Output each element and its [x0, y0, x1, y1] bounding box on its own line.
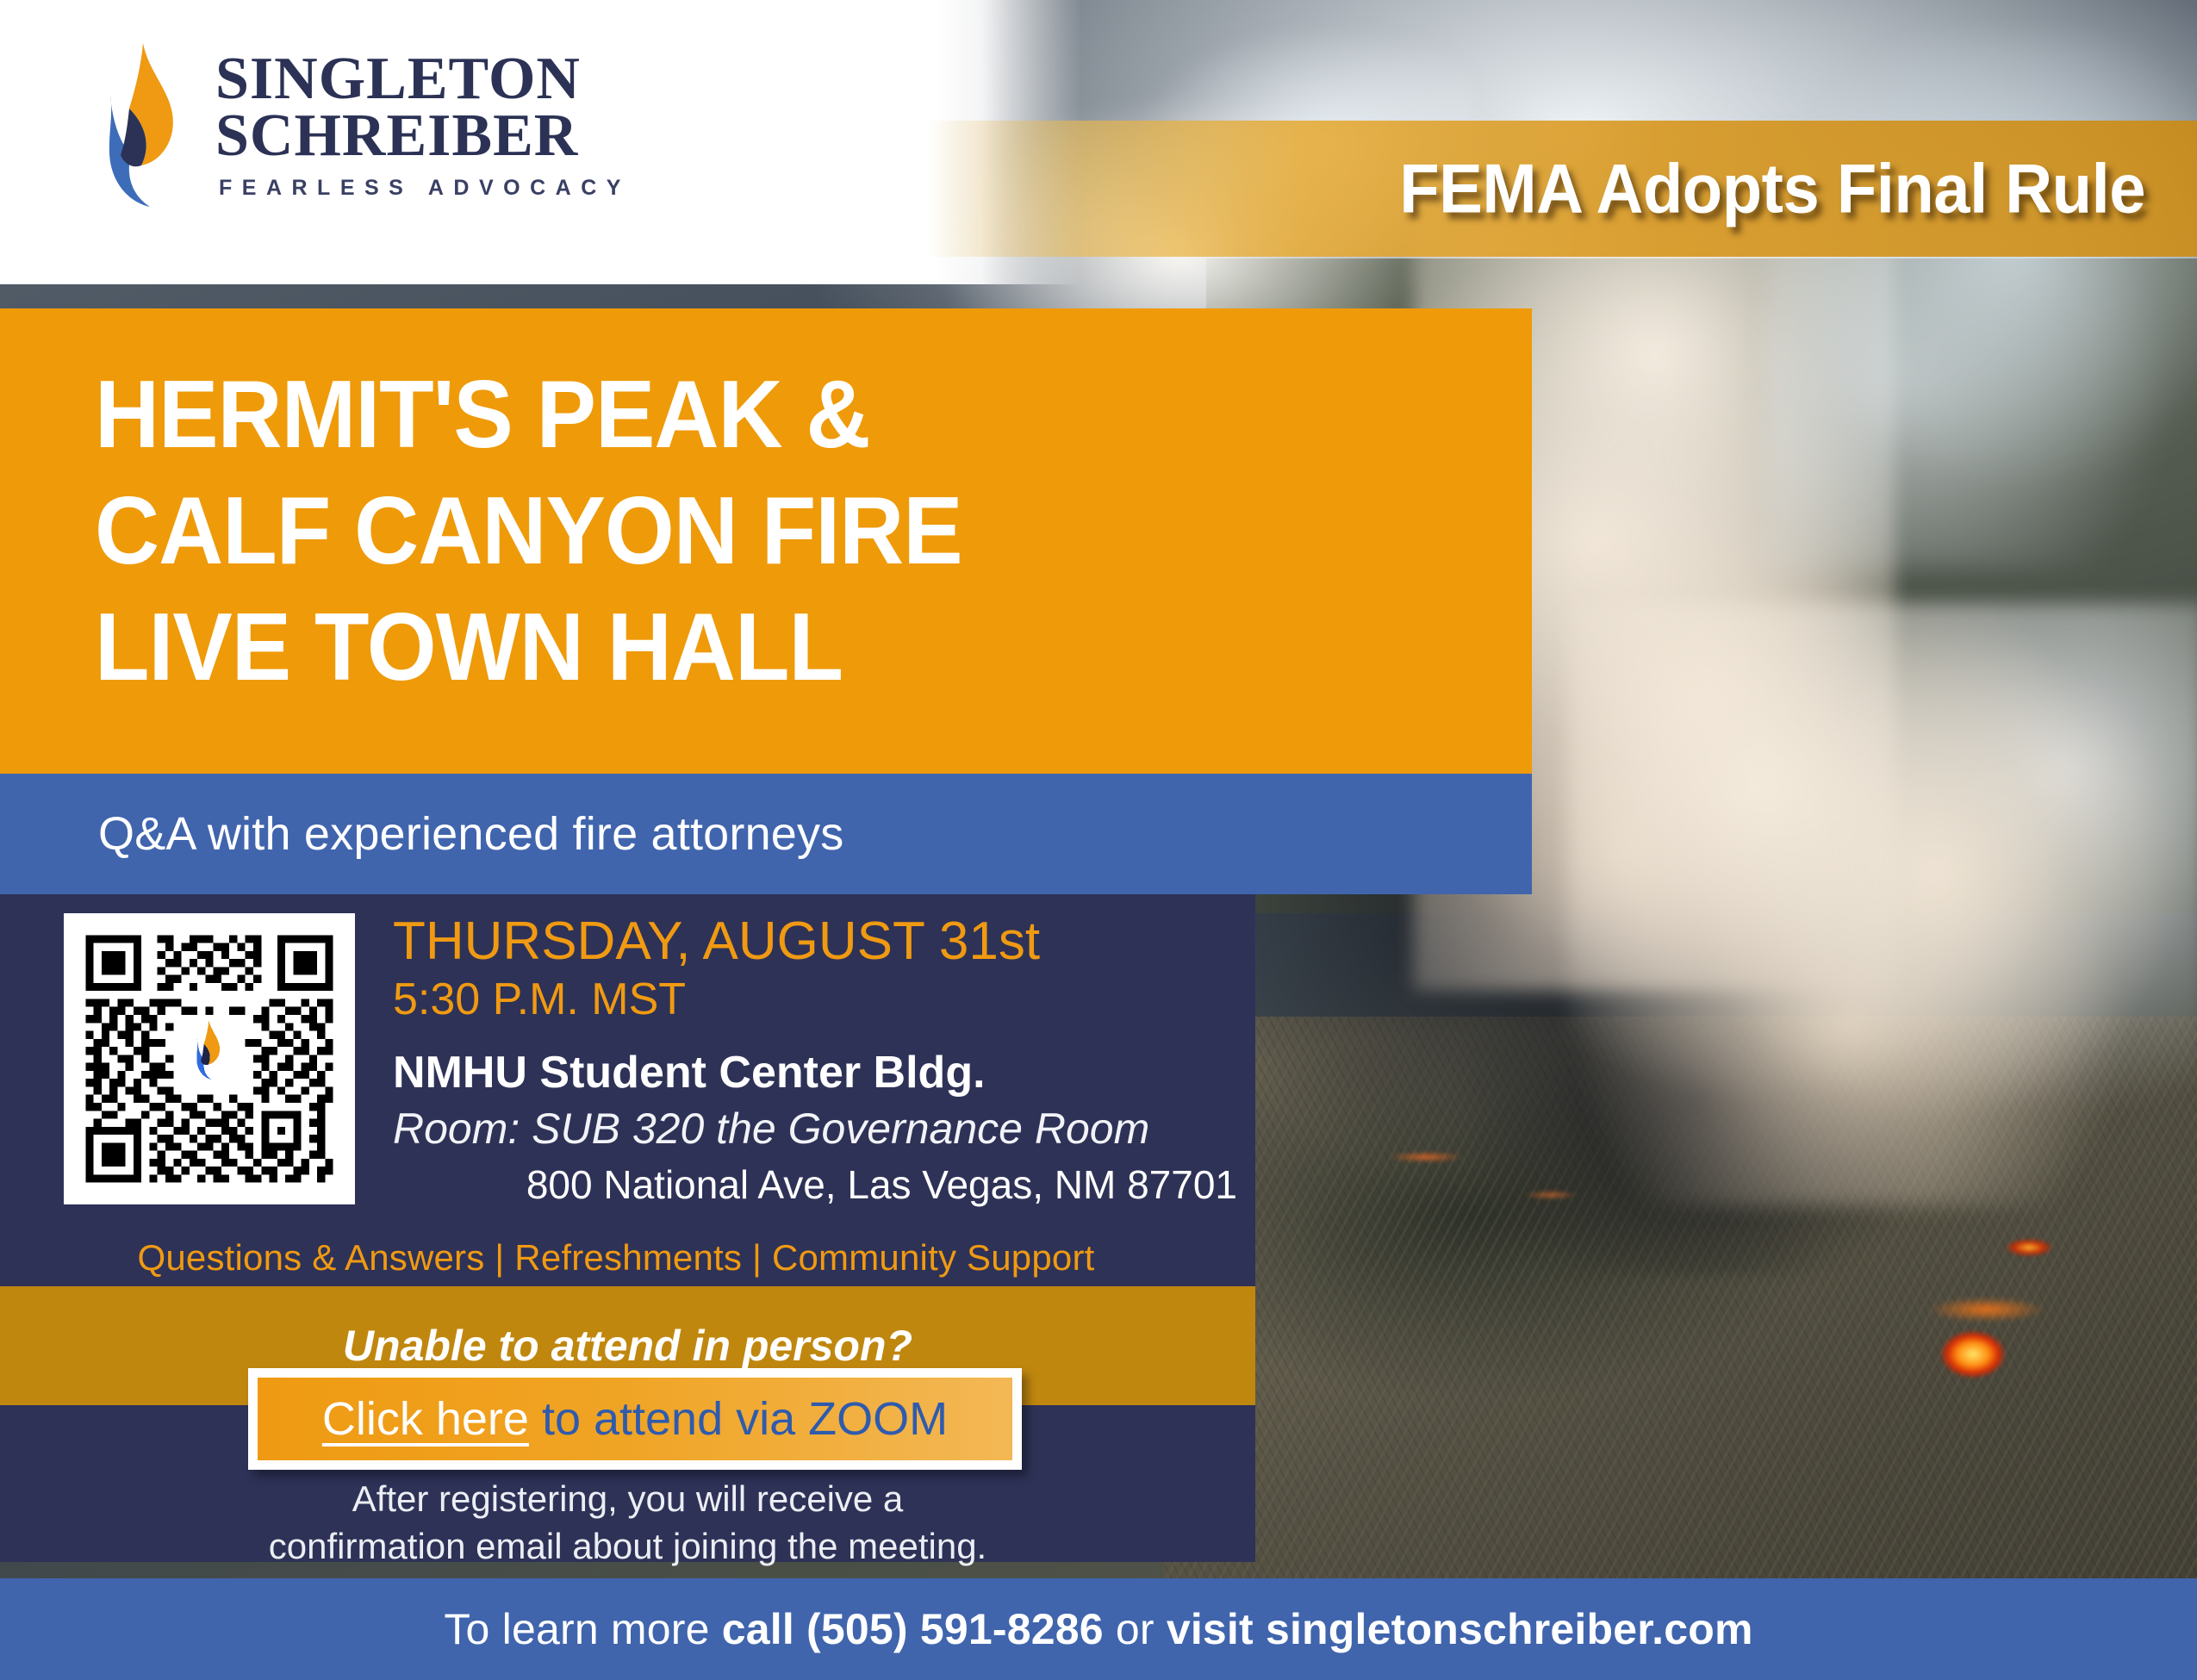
- headline-line-2: CALF CANYON FIRE: [95, 470, 1532, 594]
- zoom-register-button[interactable]: Click here to attend via ZOOM: [248, 1368, 1022, 1470]
- zoom-register-button-face: Click here to attend via ZOOM: [258, 1378, 1012, 1460]
- photo-plume-lower: [1568, 603, 2197, 1206]
- contact-footer-text: To learn more call (505) 591-8286 or vis…: [444, 1604, 1752, 1654]
- flyer-root: SINGLETON SCHREIBER FEARLESS ADVOCACY FE…: [0, 0, 2197, 1680]
- photo-flame-hotspot-small-left: [1379, 1150, 1473, 1164]
- headline-line-1: HERMIT'S PEAK &: [95, 353, 1532, 478]
- photo-plume-upper-right: [1766, 34, 2197, 569]
- footer-lead: To learn more: [444, 1605, 721, 1653]
- flame-logo-icon: [76, 41, 190, 210]
- zoom-cta-rest: to attend via ZOOM: [529, 1393, 948, 1445]
- footer-phone[interactable]: call (505) 591-8286: [722, 1605, 1104, 1653]
- brand-name-line1: SINGLETON: [215, 51, 631, 108]
- headline-block: HERMIT'S PEAK & CALF CANYON FIRE LIVE TO…: [0, 308, 1532, 774]
- footer-website[interactable]: visit singletonschreiber.com: [1167, 1605, 1753, 1653]
- registration-note: After registering, you will receive a co…: [0, 1476, 1255, 1570]
- photo-flame-hotspot-small-mid: [1516, 1189, 1585, 1201]
- event-room: Room: SUB 320 the Governance Room: [393, 1103, 1237, 1155]
- zoom-register-label: Click here to attend via ZOOM: [322, 1392, 948, 1446]
- virtual-attend-prompt: Unable to attend in person?: [343, 1321, 912, 1371]
- event-venue: NMHU Student Center Bldg.: [393, 1047, 1237, 1099]
- brand-logo[interactable]: SINGLETON SCHREIBER FEARLESS ADVOCACY: [76, 41, 631, 210]
- fema-banner: FEMA Adopts Final Rule: [926, 121, 2197, 257]
- brand-name-line2: SCHREIBER: [215, 108, 631, 165]
- photo-flame-glow: [1878, 1292, 2059, 1327]
- event-date: THURSDAY, AUGUST 31st: [393, 912, 1237, 971]
- brand-tagline: FEARLESS ADVOCACY: [219, 176, 631, 201]
- event-address: 800 National Ave, Las Vegas, NM 87701: [393, 1160, 1237, 1209]
- event-features: Questions & Answers | Refreshments | Com…: [0, 1237, 1232, 1279]
- subtitle-band: Q&A with experienced fire attorneys: [0, 774, 1532, 894]
- qr-code-matrix: [78, 927, 341, 1191]
- registration-note-line1: After registering, you will receive a: [0, 1476, 1255, 1523]
- qr-code[interactable]: [64, 913, 355, 1204]
- event-time: 5:30 P.M. MST: [393, 973, 1237, 1027]
- zoom-click-here-link[interactable]: Click here: [322, 1393, 529, 1445]
- event-info: THURSDAY, AUGUST 31st 5:30 P.M. MST NMHU…: [393, 912, 1237, 1209]
- headline-line-3: LIVE TOWN HALL: [95, 586, 1532, 711]
- photo-flame-hotspot-main: [1921, 1327, 2025, 1382]
- registration-note-line2: confirmation email about joining the mee…: [0, 1523, 1255, 1571]
- footer-mid: or: [1104, 1605, 1167, 1653]
- contact-footer: To learn more call (505) 591-8286 or vis…: [0, 1578, 2197, 1680]
- fema-banner-text: FEMA Adopts Final Rule: [1399, 149, 2145, 228]
- photo-flame-hotspot-upper: [1999, 1236, 2059, 1259]
- brand-wordmark: SINGLETON SCHREIBER FEARLESS ADVOCACY: [215, 51, 631, 201]
- subtitle-text: Q&A with experienced fire attorneys: [98, 807, 843, 861]
